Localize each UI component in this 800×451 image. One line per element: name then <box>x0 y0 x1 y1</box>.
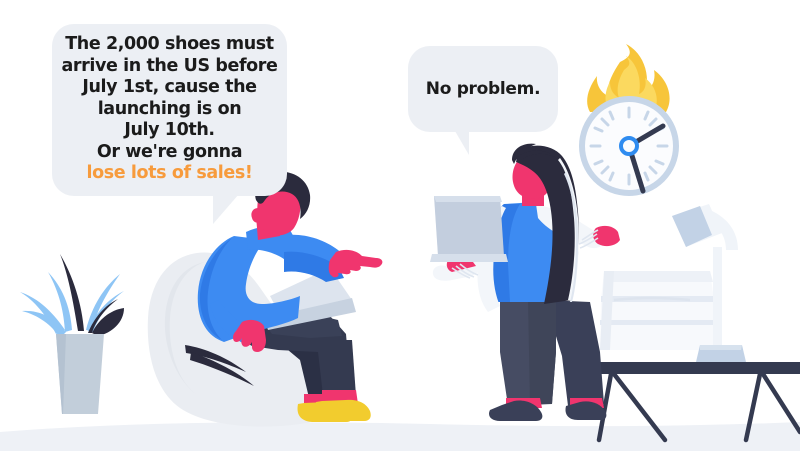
speech-bubble-main-tail <box>213 194 239 224</box>
illustration-scene: The 2,000 shoes must arrive in the US be… <box>0 0 800 451</box>
clock-center <box>621 138 637 154</box>
desk-area <box>596 204 800 440</box>
bubble-line-1: The 2,000 shoes must <box>65 34 274 54</box>
bubble-highlight-text: lose lots of sales! <box>60 163 279 185</box>
speech-bubble-reply-tail <box>441 131 469 155</box>
standing-woman <box>430 144 620 421</box>
floor <box>0 422 800 451</box>
speech-bubble-main: The 2,000 shoes must arrive in the US be… <box>52 24 287 196</box>
bubble-line-6: Or we're gonna <box>97 142 242 162</box>
potted-plant <box>20 254 124 414</box>
bubble-line-3: July 1st, cause the <box>82 77 256 97</box>
desk-top <box>596 362 800 374</box>
bubble-line-5: July 10th. <box>124 120 214 140</box>
speech-bubble-reply: No problem. <box>408 46 558 132</box>
burning-clock <box>579 44 679 196</box>
speech-bubble-main-text: The 2,000 shoes must arrive in the US be… <box>60 34 279 185</box>
bubble-line-4: launching is on <box>98 99 242 119</box>
bubble-line-2: arrive in the US before <box>61 56 277 76</box>
paper-stack <box>600 271 717 350</box>
speech-bubble-reply-text: No problem. <box>408 46 558 132</box>
